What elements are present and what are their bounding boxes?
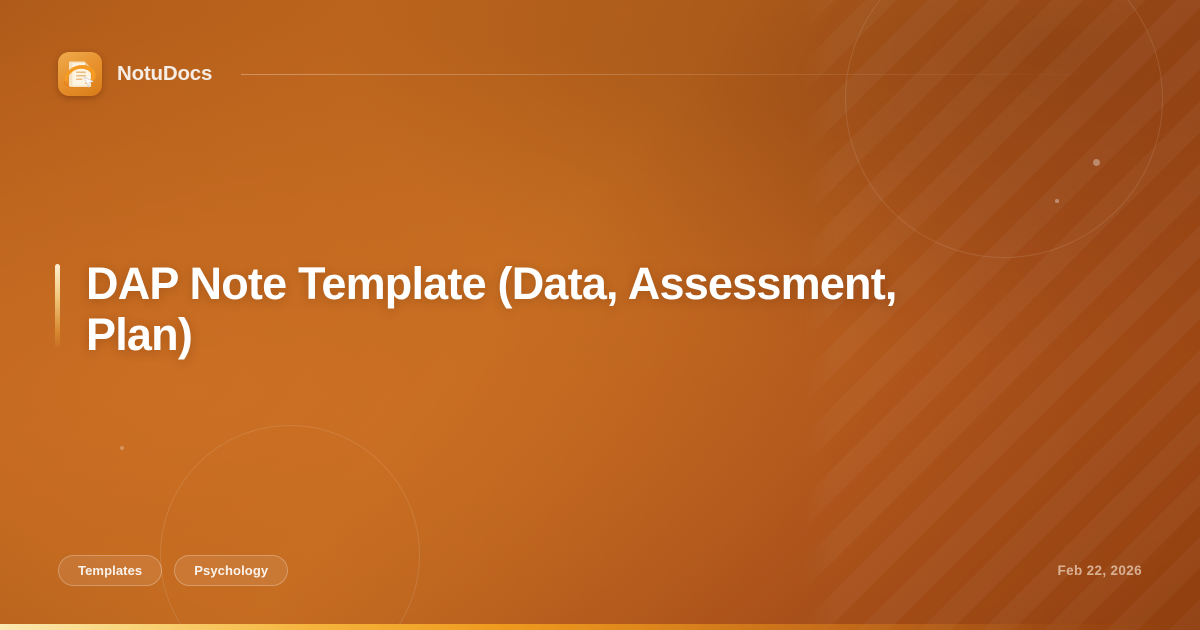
publish-date: Feb 22, 2026 [1057, 563, 1142, 578]
header-divider [241, 74, 1122, 75]
card-footer: Templates Psychology Feb 22, 2026 [58, 554, 1142, 586]
page-title: DAP Note Template (Data, Assessment, Pla… [86, 258, 960, 360]
decorative-dot-large [1093, 159, 1100, 166]
decorative-dot-left [120, 446, 124, 450]
brand-name: NotuDocs [117, 62, 212, 86]
document-cursor-icon [58, 52, 102, 96]
bottom-accent-strip [0, 624, 1200, 630]
tag-psychology[interactable]: Psychology [174, 555, 288, 586]
tag-templates[interactable]: Templates [58, 555, 162, 586]
title-accent-bar [55, 264, 60, 348]
decorative-dot-small [1055, 199, 1059, 203]
social-card: NotuDocs DAP Note Template (Data, Assess… [0, 0, 1200, 630]
tag-list: Templates Psychology [58, 555, 288, 586]
decorative-circle-bottom-left [160, 425, 420, 630]
card-header: NotuDocs [58, 52, 1142, 96]
hero-title-block: DAP Note Template (Data, Assessment, Pla… [55, 258, 960, 360]
